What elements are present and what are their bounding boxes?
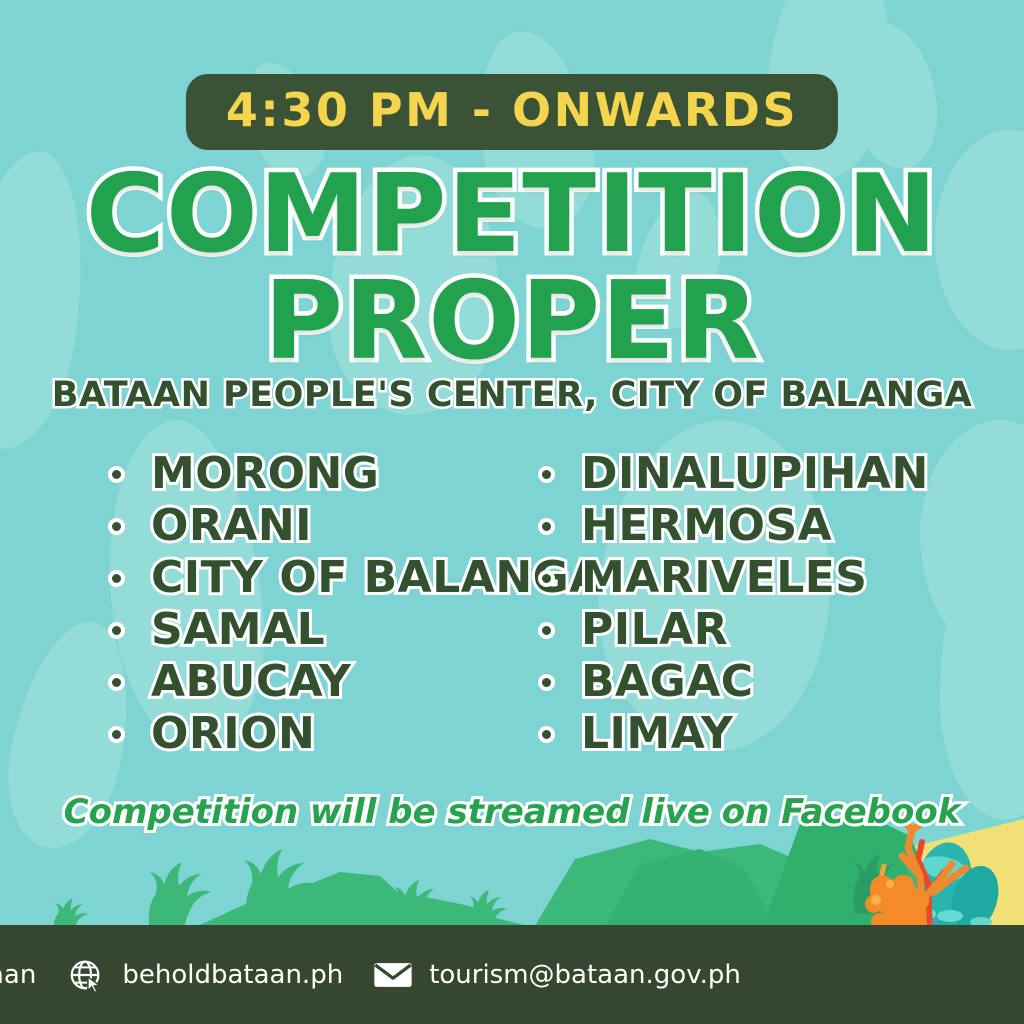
bullet-icon: [108, 570, 125, 587]
title-line-1: COMPETITION: [0, 164, 1024, 267]
venue-label: BATAAN PEOPLE'S CENTER, CITY OF BALANGA: [0, 375, 1024, 415]
website-contact[interactable]: beholdbataan.ph: [66, 955, 343, 995]
list-item: SAMAL: [108, 604, 538, 656]
list-item: ORION: [108, 708, 538, 760]
municipality-column-left: MORONG ORANI CITY OF BALANGA SAMAL ABUCA…: [108, 448, 538, 760]
bullet-icon: [108, 466, 125, 483]
municipality-label: LIMAY: [581, 712, 733, 756]
municipality-label: SAMAL: [151, 608, 325, 652]
email-contact[interactable]: tourism@bataan.gov.ph: [373, 955, 741, 995]
list-item: LIMAY: [538, 708, 968, 760]
time-badge: 4:30 PM - ONWARDS: [186, 74, 838, 150]
globe-cursor-icon: [66, 955, 106, 995]
municipality-label: ORION: [151, 712, 315, 756]
list-item: PILAR: [538, 604, 968, 656]
bullet-icon: [108, 622, 125, 639]
footer-bar: aan beholdbataan.ph: [0, 925, 1024, 1024]
time-label: 4:30 PM - ONWARDS: [226, 87, 798, 133]
bullet-icon: [538, 466, 555, 483]
municipality-label: CITY OF BALANGA: [151, 556, 604, 600]
bullet-icon: [108, 674, 125, 691]
website-label: beholdbataan.ph: [122, 960, 343, 990]
municipality-label: DINALUPIHAN: [581, 452, 929, 496]
envelope-icon: [373, 955, 413, 995]
bullet-icon: [108, 726, 125, 743]
list-item: CITY OF BALANGA: [108, 552, 538, 604]
municipality-label: HERMOSA: [581, 504, 832, 548]
municipality-label: MARIVELES: [581, 556, 867, 600]
poster-title: COMPETITION PROPER: [0, 164, 1024, 373]
livestream-note: Competition will be streamed live on Fac…: [0, 792, 1024, 832]
list-item: DINALUPIHAN: [538, 448, 968, 500]
municipality-label: PILAR: [581, 608, 728, 652]
municipality-label: BAGAC: [581, 660, 754, 704]
bullet-icon: [538, 518, 555, 535]
municipality-column-right: DINALUPIHAN HERMOSA MARIVELES PILAR BAGA…: [538, 448, 968, 760]
facebook-handle-label: aan: [0, 960, 36, 990]
bullet-icon: [538, 674, 555, 691]
list-item: MARIVELES: [538, 552, 968, 604]
bullet-icon: [538, 570, 555, 587]
bullet-icon: [538, 726, 555, 743]
municipality-label: ABUCAY: [151, 660, 351, 704]
list-item: ABUCAY: [108, 656, 538, 708]
bullet-icon: [108, 518, 125, 535]
list-item: HERMOSA: [538, 500, 968, 552]
poster-canvas: 4:30 PM - ONWARDS COMPETITION PROPER BAT…: [0, 0, 1024, 1024]
municipality-lists: MORONG ORANI CITY OF BALANGA SAMAL ABUCA…: [0, 448, 1024, 760]
list-item: MORONG: [108, 448, 538, 500]
title-line-2: PROPER: [0, 271, 1024, 374]
email-label: tourism@bataan.gov.ph: [429, 960, 741, 990]
municipality-label: ORANI: [151, 504, 312, 548]
list-item: ORANI: [108, 500, 538, 552]
municipality-label: MORONG: [151, 452, 379, 496]
list-item: BAGAC: [538, 656, 968, 708]
bullet-icon: [538, 622, 555, 639]
